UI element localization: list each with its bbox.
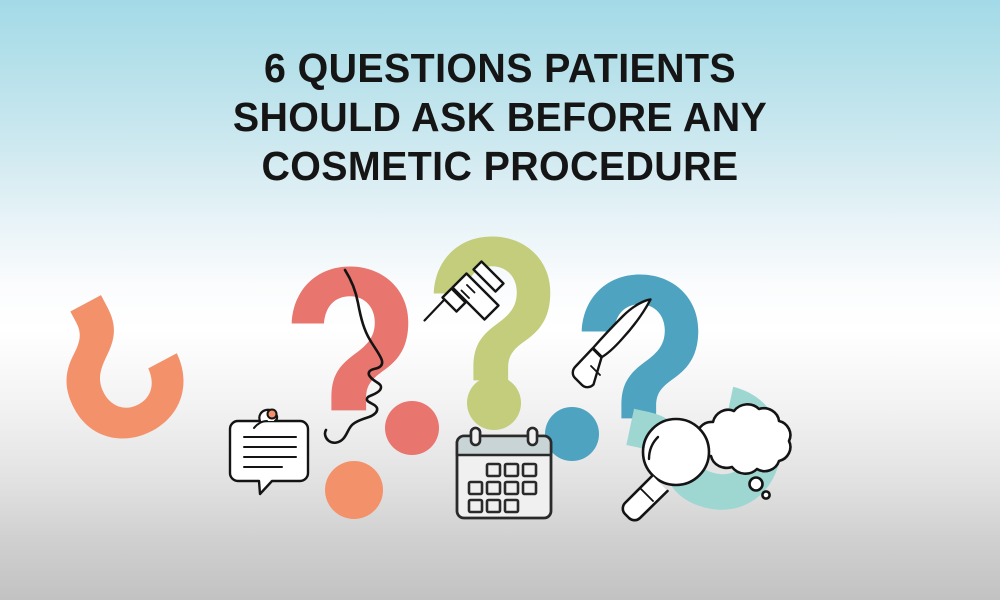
calendar-icon: [457, 428, 551, 518]
illustration: [0, 0, 1000, 600]
question-mark-orange: [33, 277, 203, 459]
dot-orange: [325, 461, 383, 519]
speech-bubble-document-icon: [230, 410, 308, 495]
question-mark-salmon: [292, 266, 409, 410]
dot-green: [467, 376, 521, 430]
dot-blue: [545, 407, 599, 461]
banner-root: 6 QUESTIONS PATIENTS SHOULD ASK BEFORE A…: [0, 0, 1000, 600]
dot-salmon: [385, 401, 439, 455]
